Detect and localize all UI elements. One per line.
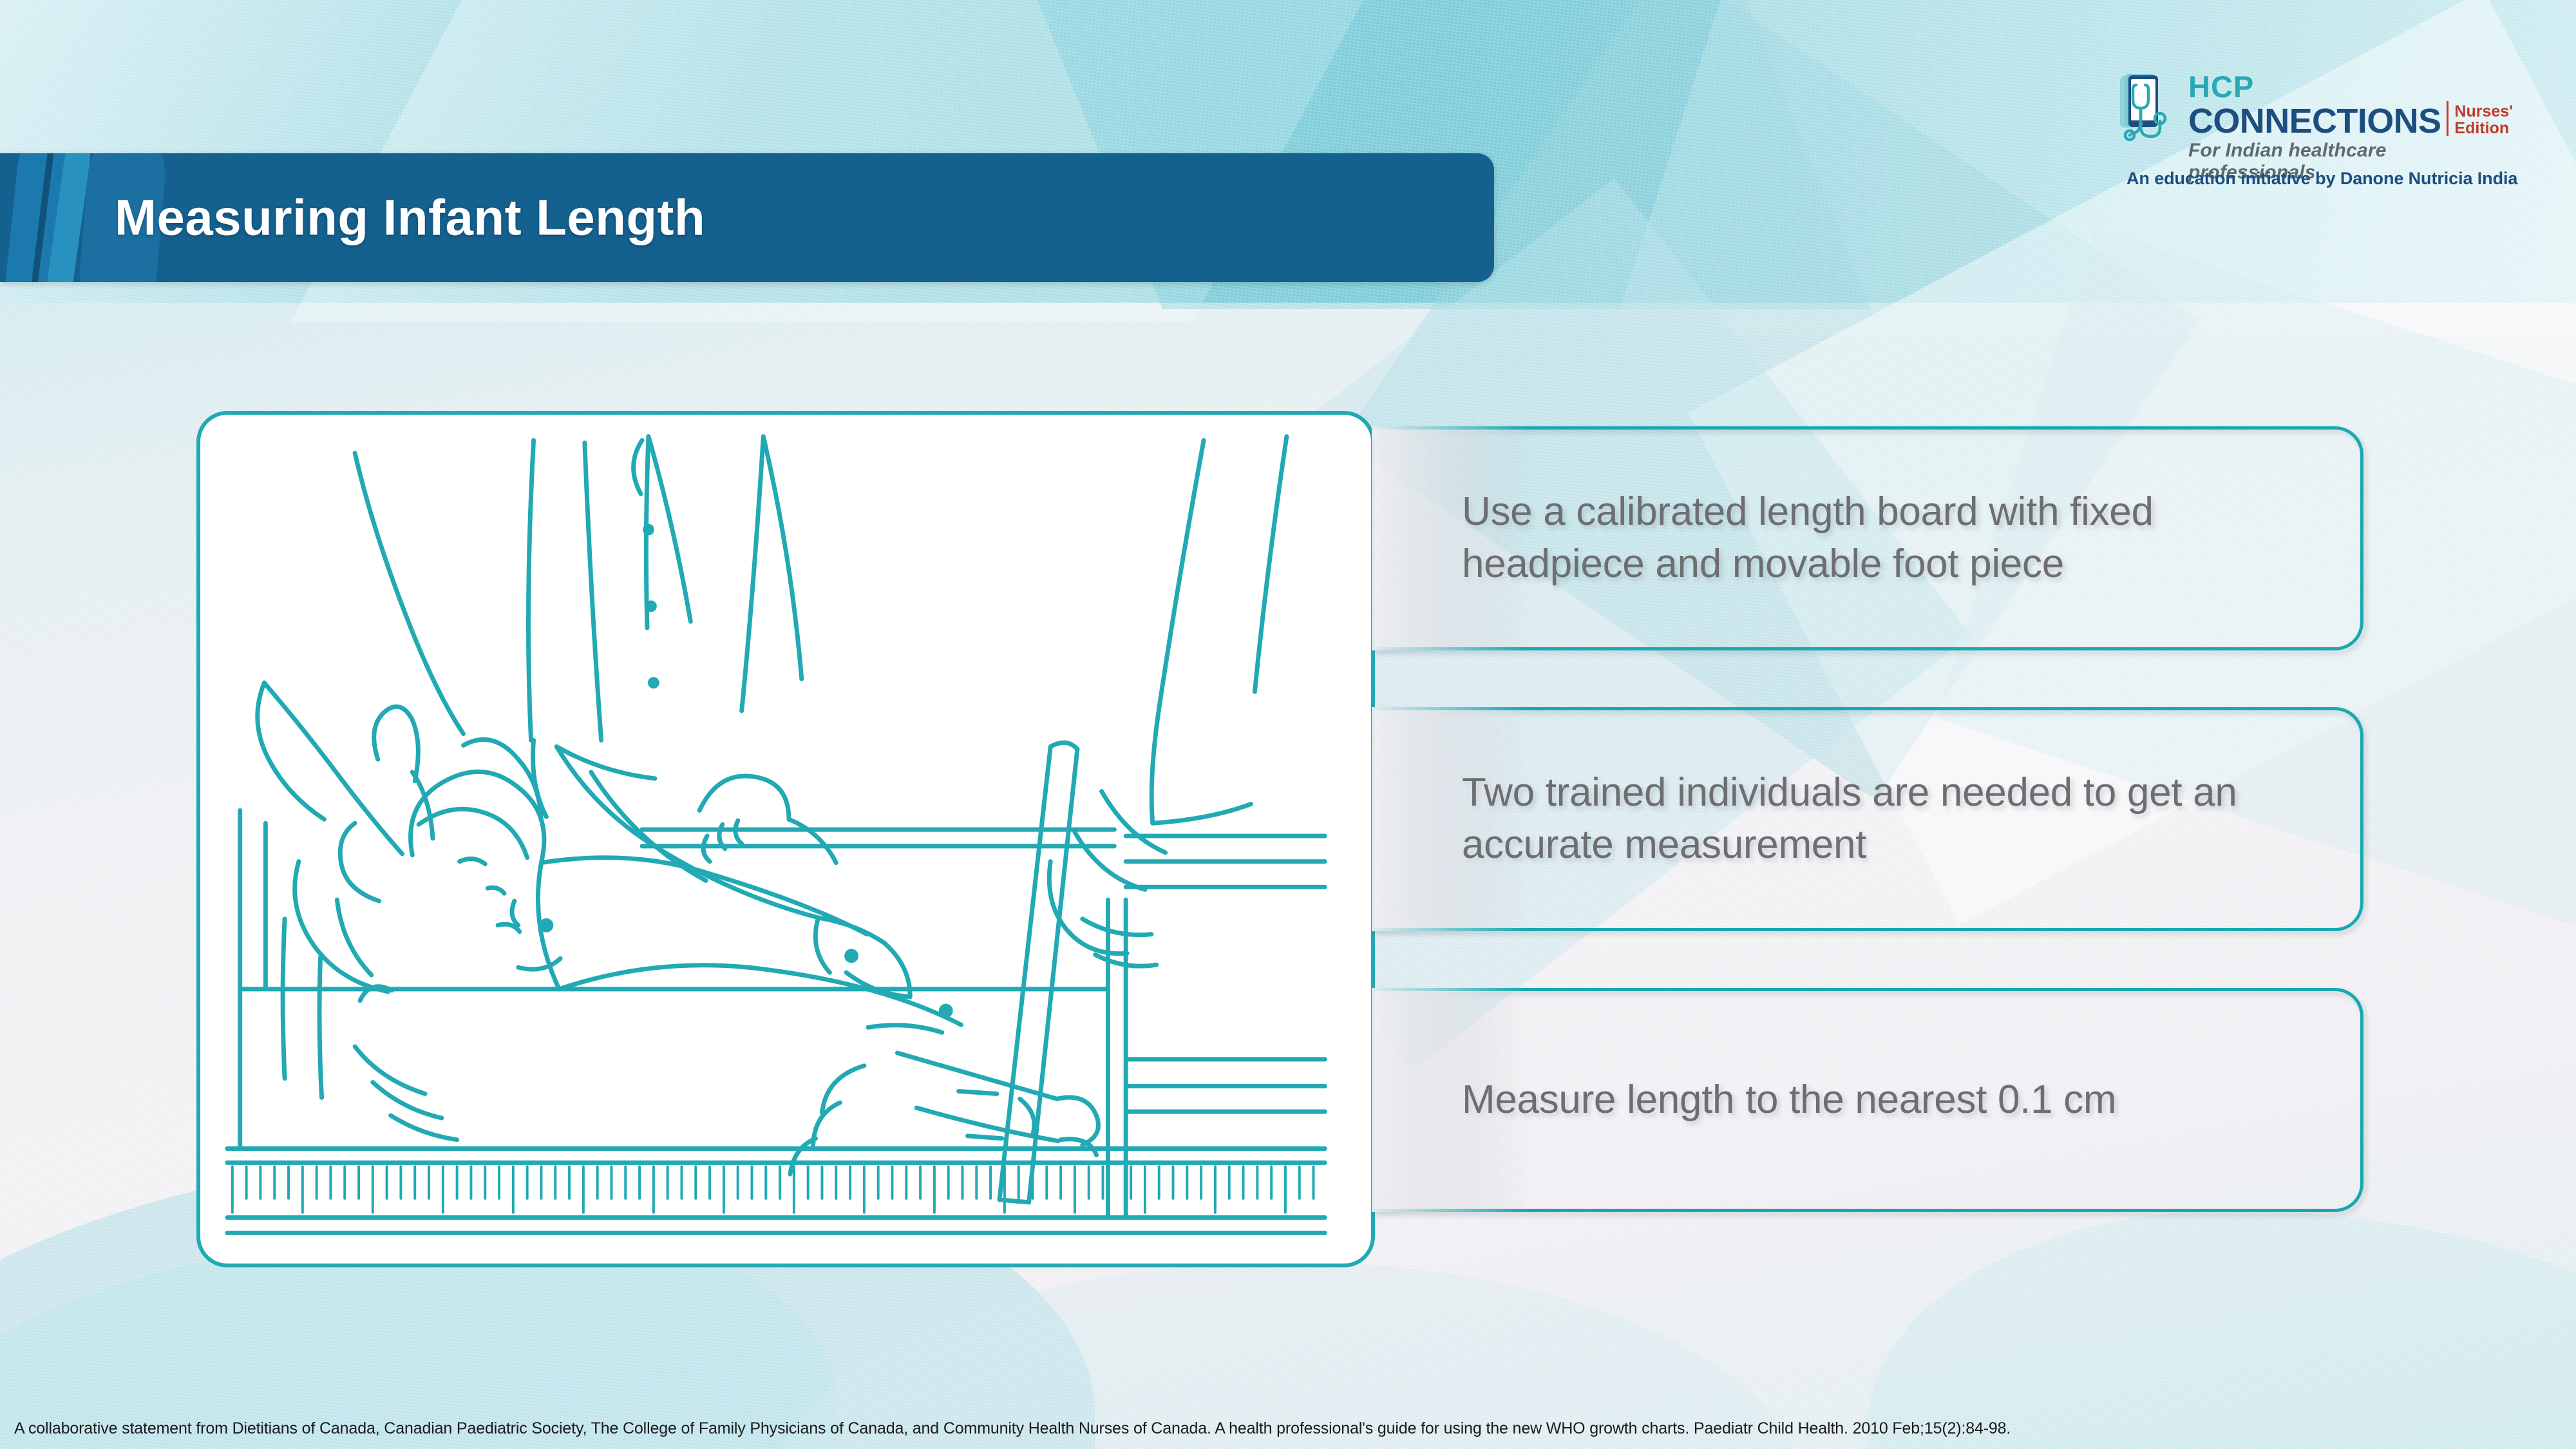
slide-title-bar: Measuring Infant Length bbox=[0, 153, 1494, 282]
bullet-box-1: Use a calibrated length board with fixed… bbox=[1372, 426, 2363, 650]
bullet-text-2: Two trained individuals are needed to ge… bbox=[1372, 767, 2360, 871]
illustration-card bbox=[196, 411, 1375, 1267]
bullet-box-2: Two trained individuals are needed to ge… bbox=[1372, 707, 2363, 931]
logo-wordmark: HCP CONNECTIONS Nurses' Edition For Indi… bbox=[2188, 72, 2513, 184]
page-title: Measuring Infant Length bbox=[115, 189, 705, 247]
logo-initiative-line: An education initiative by Danone Nutric… bbox=[2126, 169, 2517, 189]
bullet-box-3: Measure length to the nearest 0.1 cm bbox=[1372, 988, 2363, 1212]
logo-line-connections-row: CONNECTIONS Nurses' Edition bbox=[2188, 101, 2513, 138]
logo-divider bbox=[2447, 101, 2448, 136]
footer-citation: A collaborative statement from Dietitian… bbox=[14, 1419, 2564, 1439]
logo-edition-line2: Edition bbox=[2454, 120, 2513, 137]
bullet-text-1: Use a calibrated length board with fixed… bbox=[1372, 486, 2360, 590]
logo-line-connections: CONNECTIONS bbox=[2188, 105, 2441, 138]
hcp-connections-logo: HCP CONNECTIONS Nurses' Edition For Indi… bbox=[2112, 72, 2512, 201]
logo-line-hcp: HCP bbox=[2188, 72, 2513, 101]
tablet-stethoscope-icon bbox=[2119, 73, 2181, 158]
presentation-slide: Measuring Infant Length HCP CONNECTIONS … bbox=[0, 0, 2576, 1449]
logo-edition-badge: Nurses' Edition bbox=[2454, 104, 2513, 138]
bullet-text-3: Measure length to the nearest 0.1 cm bbox=[1372, 1074, 2148, 1126]
infant-length-board-measurement-illustration bbox=[200, 415, 1371, 1264]
logo-edition-line1: Nurses' bbox=[2454, 104, 2513, 120]
